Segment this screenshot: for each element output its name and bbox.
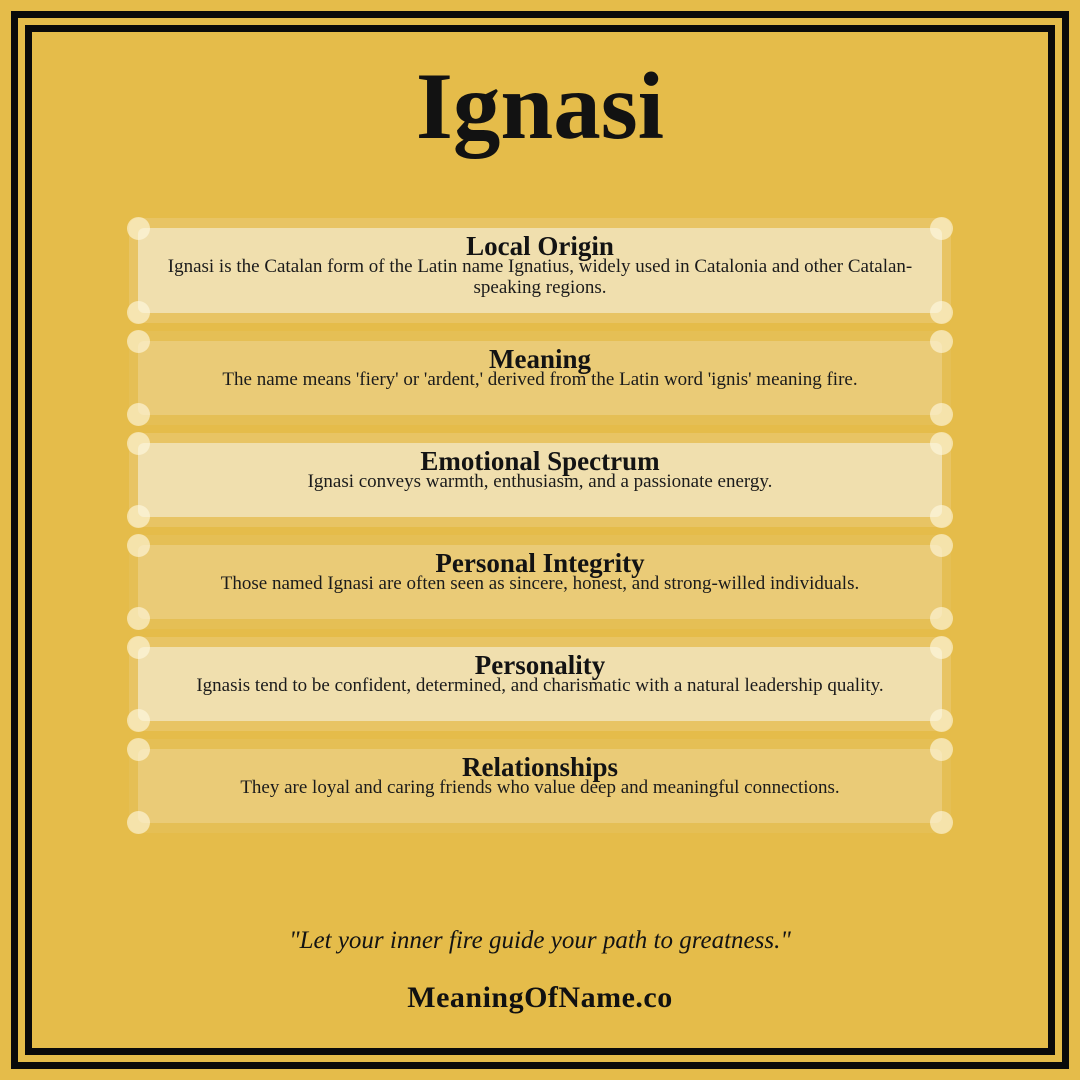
section-body-text: Those named Ignasi are often seen as sin… xyxy=(156,573,924,594)
corner-dot-icon xyxy=(127,403,150,426)
corner-dot-icon xyxy=(127,709,150,732)
section-card-panel: PersonalityIgnasis tend to be confident,… xyxy=(138,647,942,721)
section-body-text: Ignasi conveys warmth, enthusiasm, and a… xyxy=(156,471,924,492)
section-card: RelationshipsThey are loyal and caring f… xyxy=(129,739,951,833)
corner-dot-icon xyxy=(127,738,150,761)
corner-dot-icon xyxy=(127,330,150,353)
section-body-text: They are loyal and caring friends who va… xyxy=(156,777,924,798)
corner-dot-icon xyxy=(127,301,150,324)
inner-border-frame: Ignasi Local OriginIgnasi is the Catalan… xyxy=(25,25,1055,1055)
corner-dot-icon xyxy=(930,301,953,324)
section-body-text: Ignasi is the Catalan form of the Latin … xyxy=(156,256,924,299)
corner-dot-icon xyxy=(127,432,150,455)
corner-dot-icon xyxy=(930,811,953,834)
brand-name: MeaningOfName.co xyxy=(32,981,1048,1015)
page-title: Ignasi xyxy=(32,59,1048,154)
section-body-text: The name means 'fiery' or 'ardent,' deri… xyxy=(156,369,924,390)
corner-dot-icon xyxy=(127,636,150,659)
corner-dot-icon xyxy=(930,607,953,630)
corner-dot-icon xyxy=(127,607,150,630)
corner-dot-icon xyxy=(930,403,953,426)
footer: "Let your inner fire guide your path to … xyxy=(32,927,1048,1015)
corner-dot-icon xyxy=(127,217,150,240)
section-card: Local OriginIgnasi is the Catalan form o… xyxy=(129,218,951,323)
section-card-panel: RelationshipsThey are loyal and caring f… xyxy=(138,749,942,823)
outer-border-frame: Ignasi Local OriginIgnasi is the Catalan… xyxy=(11,11,1069,1069)
section-body-text: Ignasis tend to be confident, determined… xyxy=(156,675,924,696)
corner-dot-icon xyxy=(930,505,953,528)
corner-dot-icon xyxy=(930,534,953,557)
section-card-panel: Local OriginIgnasi is the Catalan form o… xyxy=(138,228,942,313)
corner-dot-icon xyxy=(930,217,953,240)
tagline-quote: "Let your inner fire guide your path to … xyxy=(32,927,1048,955)
section-card: Personal IntegrityThose named Ignasi are… xyxy=(129,535,951,629)
corner-dot-icon xyxy=(930,738,953,761)
corner-dot-icon xyxy=(930,709,953,732)
corner-dot-icon xyxy=(930,636,953,659)
section-card: PersonalityIgnasis tend to be confident,… xyxy=(129,637,951,731)
corner-dot-icon xyxy=(127,811,150,834)
section-card-panel: Personal IntegrityThose named Ignasi are… xyxy=(138,545,942,619)
section-card: Emotional SpectrumIgnasi conveys warmth,… xyxy=(129,433,951,527)
corner-dot-icon xyxy=(930,432,953,455)
corner-dot-icon xyxy=(930,330,953,353)
corner-dot-icon xyxy=(127,505,150,528)
section-card-panel: Emotional SpectrumIgnasi conveys warmth,… xyxy=(138,443,942,517)
section-card-list: Local OriginIgnasi is the Catalan form o… xyxy=(32,218,1048,833)
section-card: MeaningThe name means 'fiery' or 'ardent… xyxy=(129,331,951,425)
poster: Ignasi Local OriginIgnasi is the Catalan… xyxy=(0,0,1080,1080)
section-card-panel: MeaningThe name means 'fiery' or 'ardent… xyxy=(138,341,942,415)
corner-dot-icon xyxy=(127,534,150,557)
